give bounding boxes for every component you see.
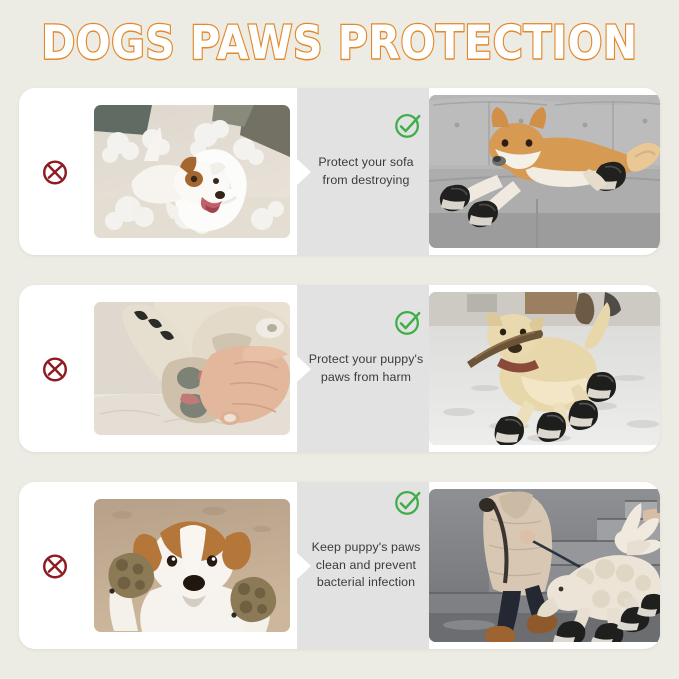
benefit-panel-1: Protect your sofa from destroying — [297, 88, 429, 255]
benefit-line: bacterial infection — [307, 574, 425, 592]
feature-row-1: Protect your sofa from destroying — [19, 88, 660, 255]
benefit-line: Keep puppy's paws — [307, 539, 425, 557]
problem-photo-3 — [94, 499, 290, 632]
feature-row-2: Protect your puppy's paws from harm — [19, 285, 660, 452]
problem-indicator-3 — [19, 482, 91, 649]
benefit-line: Protect your puppy's — [307, 351, 425, 369]
benefit-line: Protect your sofa — [307, 154, 425, 172]
benefit-text-3: Keep puppy's paws clean and prevent bact… — [307, 539, 425, 592]
benefit-text-2: Protect your puppy's paws from harm — [307, 351, 425, 386]
check-circle-icon — [393, 307, 423, 337]
header: DOGS PAWS PROTECTION — [0, 0, 679, 86]
cross-circle-icon — [40, 157, 70, 187]
solution-photo-3 — [429, 489, 660, 642]
benefit-text-1: Protect your sofa from destroying — [307, 154, 425, 189]
benefit-line: paws from harm — [307, 369, 425, 387]
problem-indicator-2 — [19, 285, 91, 452]
solution-photo-2 — [429, 292, 660, 445]
benefit-line: from destroying — [307, 172, 425, 190]
benefit-panel-2: Protect your puppy's paws from harm — [297, 285, 429, 452]
problem-photo-1 — [94, 105, 290, 238]
page-title: DOGS PAWS PROTECTION — [41, 16, 637, 70]
check-circle-icon — [393, 487, 423, 517]
cross-circle-icon — [40, 551, 70, 581]
solution-photo-1 — [429, 95, 660, 248]
problem-indicator-1 — [19, 88, 91, 255]
feature-row-3: Keep puppy's paws clean and prevent bact… — [19, 482, 660, 649]
benefit-line: clean and prevent — [307, 557, 425, 575]
benefit-panel-3: Keep puppy's paws clean and prevent bact… — [297, 482, 429, 649]
check-circle-icon — [393, 110, 423, 140]
cross-circle-icon — [40, 354, 70, 384]
problem-photo-2 — [94, 302, 290, 435]
